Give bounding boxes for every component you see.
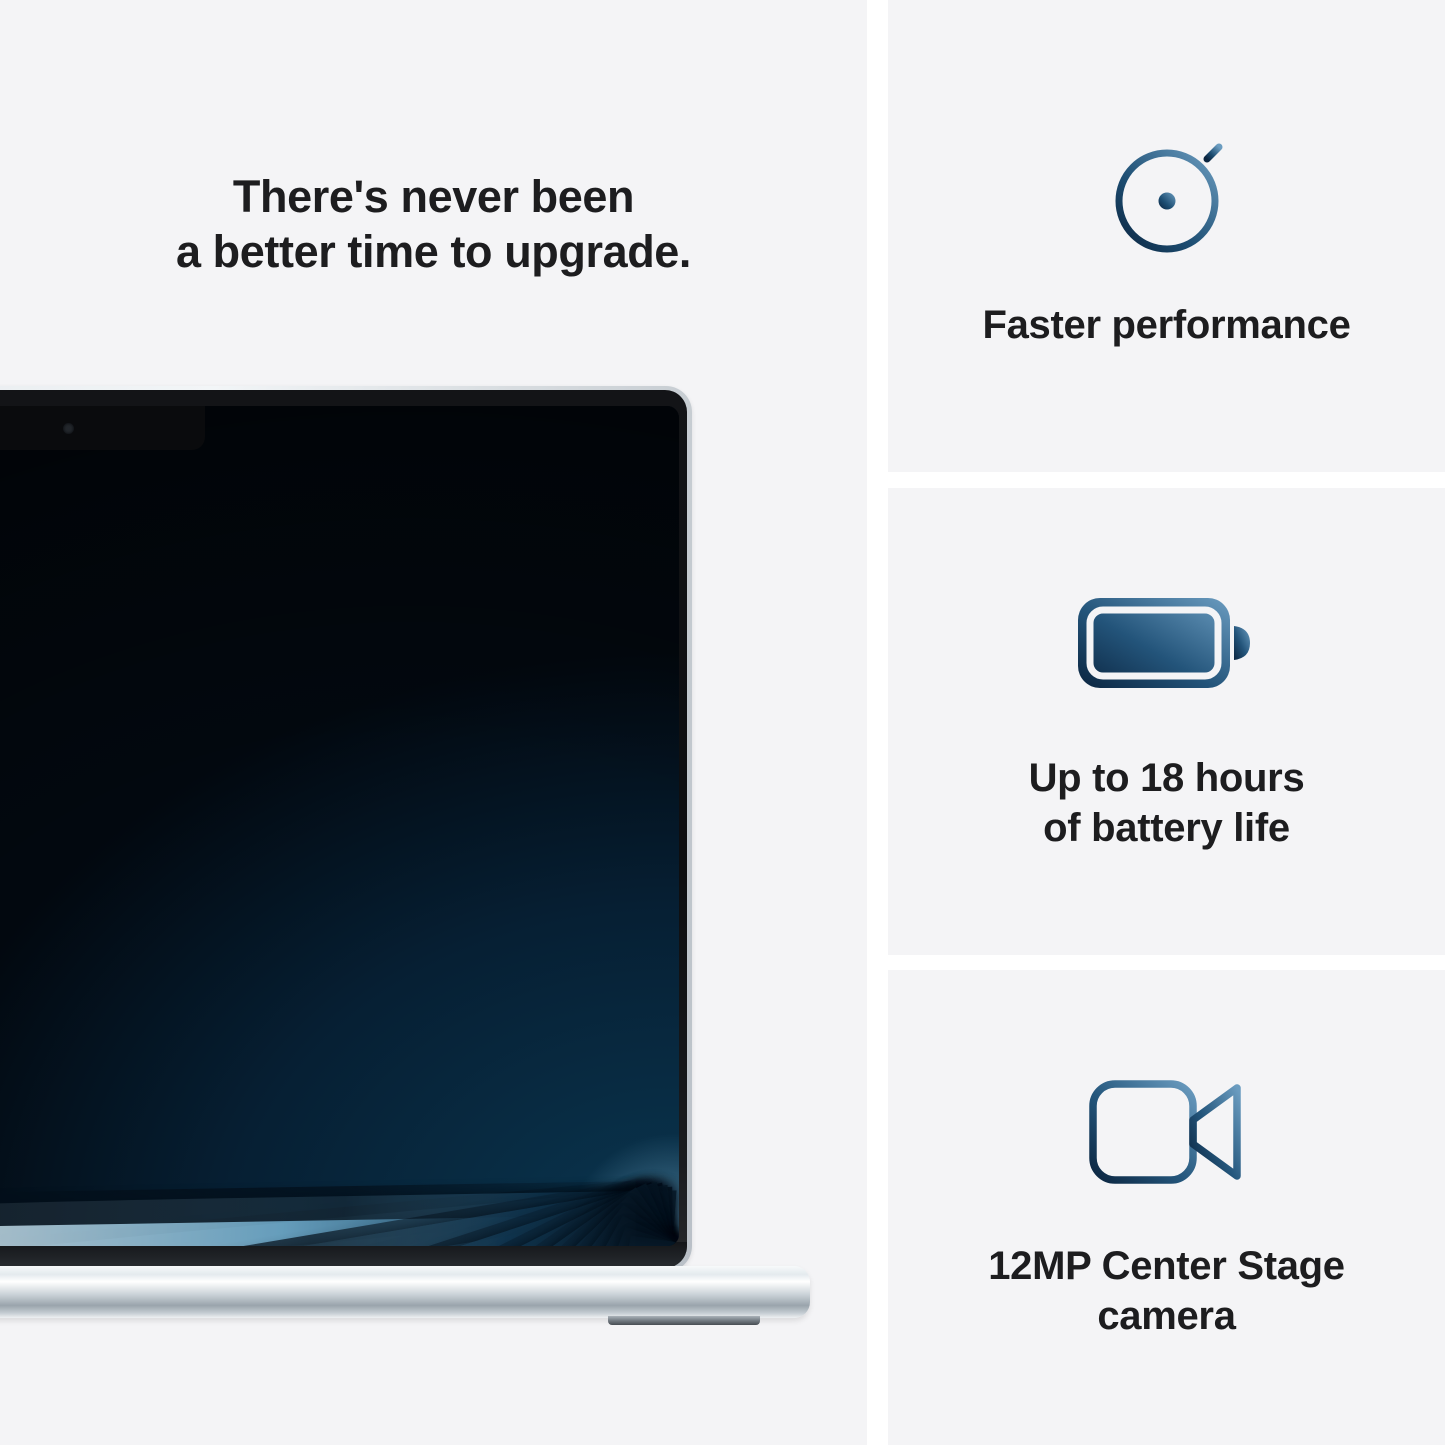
feature-card-camera: 12MP Center Stage camera: [888, 970, 1445, 1445]
display-bezel: [0, 390, 687, 1268]
product-feature-layout: There's never been a better time to upgr…: [0, 0, 1445, 1445]
macbook-product-image: [0, 386, 692, 1346]
battery-icon: [1074, 590, 1260, 696]
feature-label-camera: 12MP Center Stage camera: [988, 1242, 1345, 1341]
laptop-base: [0, 1266, 810, 1318]
feature-label-performance: Faster performance: [982, 301, 1350, 351]
laptop-lid: [0, 386, 692, 1272]
stopwatch-icon: [1097, 121, 1237, 261]
webcam-lens-icon: [63, 423, 74, 434]
display-screen: [0, 406, 679, 1246]
laptop-base-foot: [608, 1316, 760, 1325]
feature-label-battery: Up to 18 hours of battery life: [1029, 754, 1305, 853]
video-camera-icon: [1087, 1074, 1247, 1190]
feature-card-performance: Faster performance: [888, 0, 1445, 472]
feature-list: Faster performance Up to 18 hours of bat…: [888, 0, 1445, 1445]
feature-card-battery: Up to 18 hours of battery life: [888, 488, 1445, 955]
hero-panel: There's never been a better time to upgr…: [0, 0, 867, 1445]
display-notch: [0, 406, 205, 450]
page-title: There's never been a better time to upgr…: [0, 170, 867, 280]
desktop-wallpaper: [0, 406, 679, 1246]
